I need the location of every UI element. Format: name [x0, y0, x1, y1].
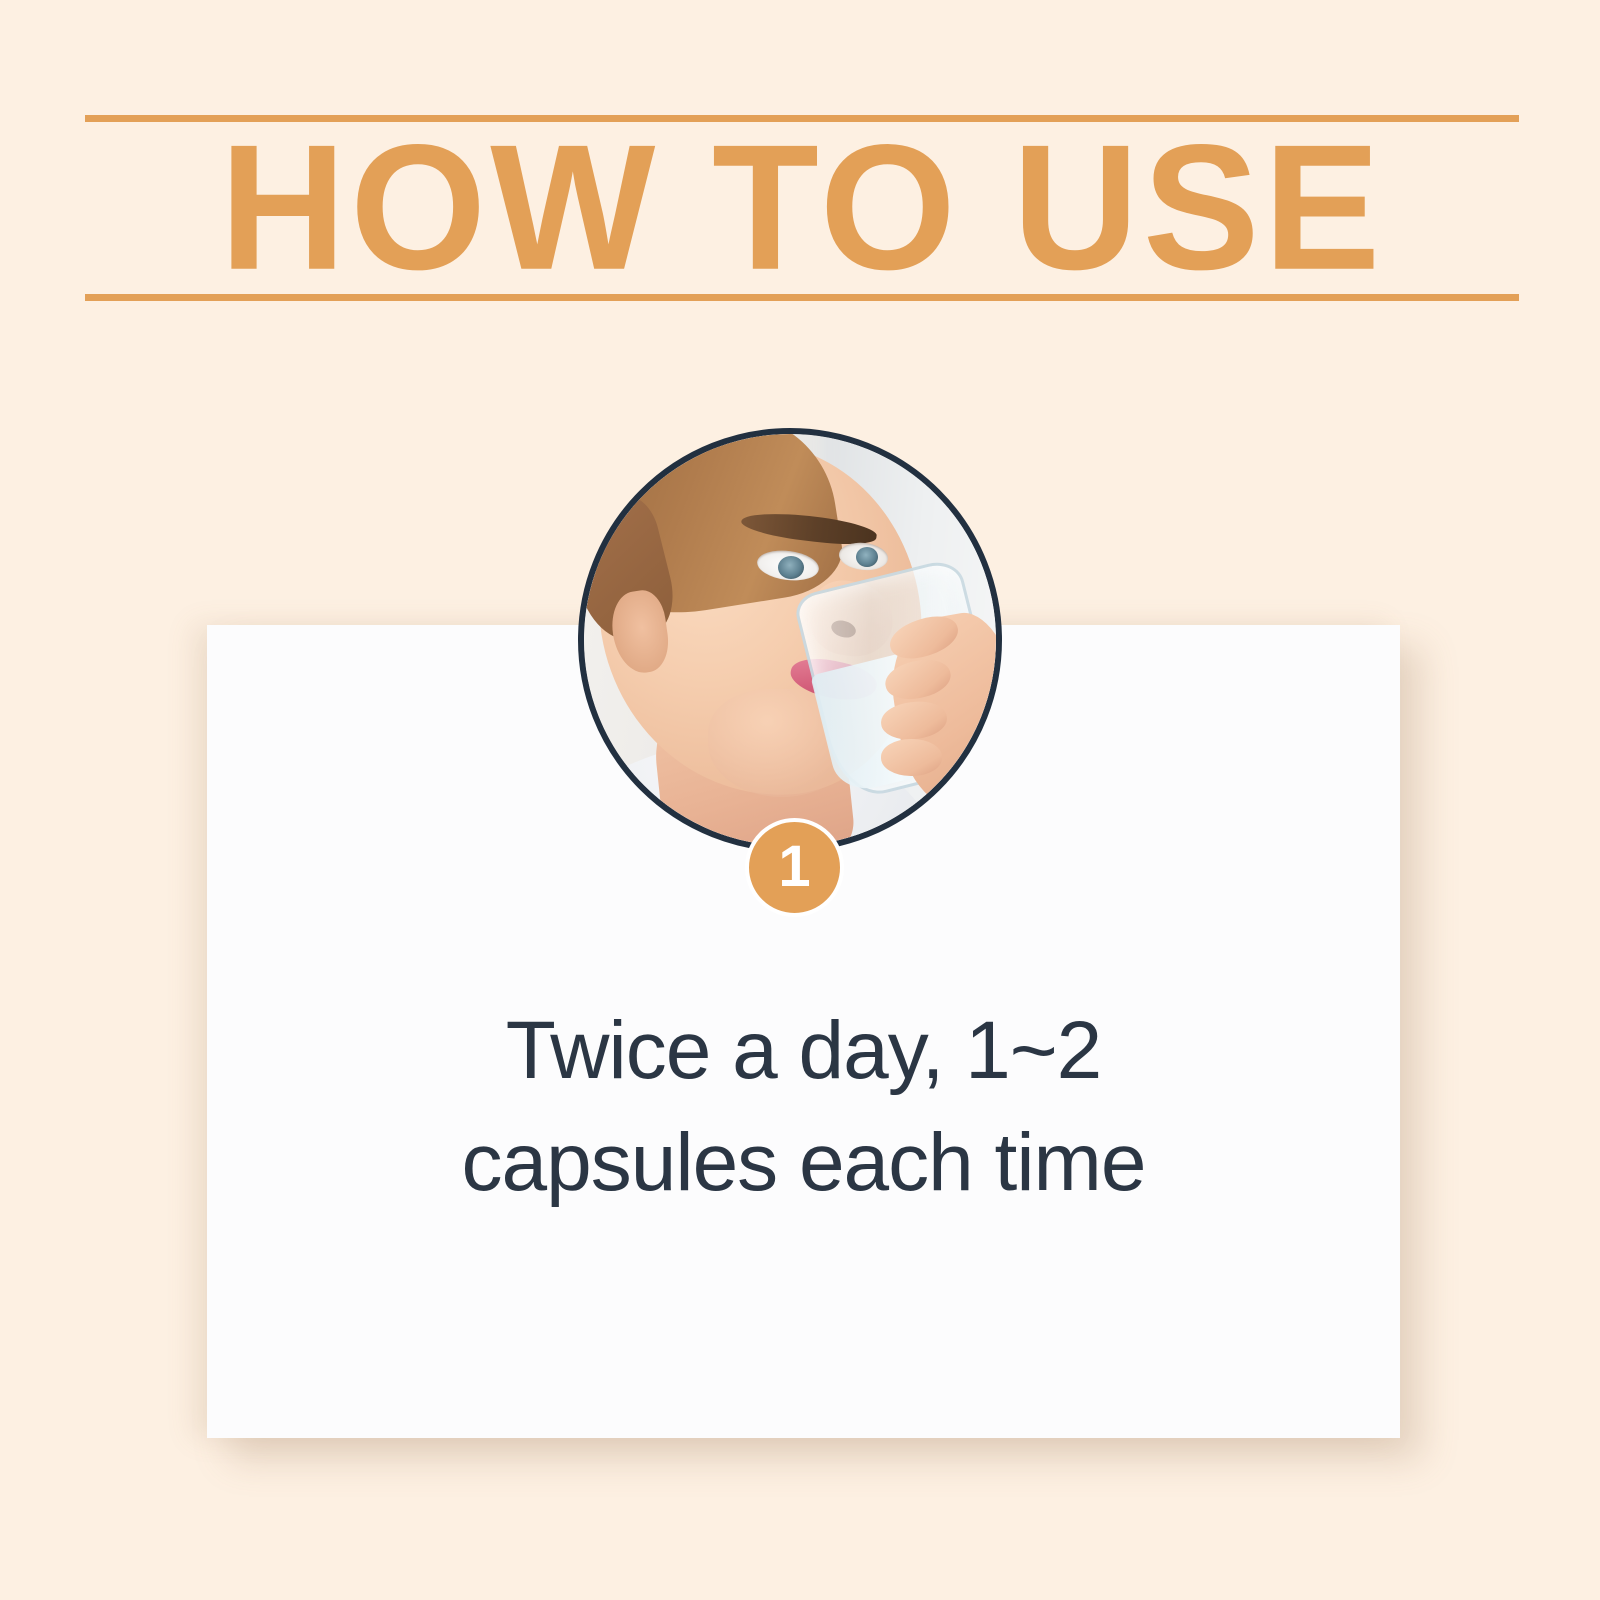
step-number-label: 1 [778, 838, 810, 896]
woman-drinking-water-photo [578, 428, 1002, 852]
step-instruction-text: Twice a day, 1~2 capsules each time [454, 995, 1154, 1219]
photo-inner [584, 434, 996, 846]
step-number-badge: 1 [745, 818, 844, 917]
header-bottom-rule [85, 294, 1519, 301]
page-header: HOW TO USE [85, 115, 1519, 301]
page-title: HOW TO USE [85, 119, 1519, 298]
photo-finger-4 [881, 739, 943, 776]
photo-iris-right [856, 547, 878, 567]
photo-iris-left [778, 556, 804, 579]
